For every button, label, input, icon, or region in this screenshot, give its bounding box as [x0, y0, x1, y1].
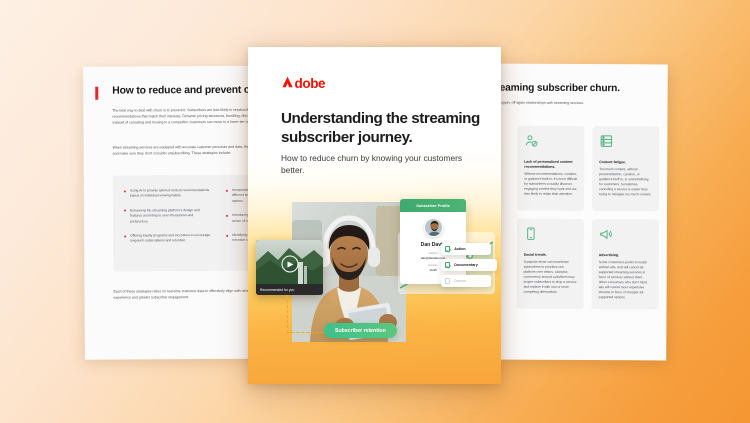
connector-line-vertical — [287, 295, 288, 333]
megaphone-icon — [599, 227, 652, 246]
mobile-phone-icon — [524, 227, 577, 246]
adobe-logo: dobe — [281, 76, 325, 91]
avatar — [424, 218, 443, 237]
genre-chip-label: Documentary — [454, 263, 478, 267]
card-heading: Advertising. — [599, 253, 652, 258]
churn-source-card: Content fatigue. Too much content, witho… — [592, 126, 659, 211]
ebook-cover[interactable]: dobe Understanding the streaming subscri… — [248, 47, 501, 384]
bullet-column-left: Using AI to provide tailored content rec… — [124, 188, 212, 253]
card-body: A popular show can incentivize subscribe… — [524, 260, 577, 295]
connector-line-horizontal — [287, 332, 324, 333]
cover-headline: Understanding the streaming subscriber j… — [281, 109, 481, 147]
genre-chip-drama[interactable]: Drama — [441, 275, 491, 287]
genre-chip-action[interactable]: Action — [441, 243, 491, 255]
document-page-right[interactable]: Sources of streaming subscriber churn. S… — [496, 64, 668, 361]
subscriber-retention-pill[interactable]: Subscriber retention — [324, 323, 397, 338]
list-checklist-icon — [599, 134, 652, 153]
checkbox-unchecked-icon[interactable] — [445, 278, 450, 283]
card-body: Without recommendations, curation, or gu… — [524, 172, 577, 197]
adobe-logo-text: dobe — [295, 76, 326, 91]
card-body: Too much content, without personalizatio… — [599, 167, 652, 197]
genre-chip-documentary[interactable]: Documentary — [441, 259, 497, 271]
card-heading: Lack of personalized content recommendat… — [524, 160, 577, 170]
card-heading: Social trends. — [524, 253, 577, 258]
list-item: Enhancing the streaming platform's desig… — [124, 208, 212, 225]
recommended-video-card[interactable]: Recommended for you — [256, 240, 323, 295]
checkbox-checked-icon[interactable] — [445, 246, 450, 251]
right-doc-card-grid: Lack of personalized content recommendat… — [516, 126, 659, 310]
churn-source-card: Social trends. A popular show can incent… — [516, 219, 583, 309]
card-heading: Content fatigue. — [599, 160, 652, 165]
adobe-a-mark — [281, 76, 294, 88]
genre-chip-label: Action — [454, 247, 465, 251]
hero-composition: How to reduce and prevent churn. The bes… — [0, 0, 750, 423]
list-item: Offering loyalty programs and incentives… — [124, 233, 212, 244]
churn-source-card: Advertising. Some consumers prefer to wa… — [591, 219, 658, 309]
play-icon[interactable] — [281, 256, 298, 273]
churn-source-card: Lack of personalized content recommendat… — [517, 126, 584, 211]
accent-bar — [95, 87, 98, 100]
user-block-icon — [524, 134, 577, 153]
right-doc-subtitle: Several factors push subscribers into on… — [496, 100, 663, 107]
cover-deck: How to reduce churn by knowing your cust… — [281, 152, 466, 176]
list-item: Using AI to provide tailored content rec… — [124, 188, 212, 199]
subscriber-profile-card[interactable]: Subscriber Profile Dan Davis Address dan… — [400, 199, 466, 284]
right-doc-title: Sources of streaming subscriber churn. — [496, 82, 663, 94]
checkbox-checked-icon[interactable] — [445, 262, 450, 267]
profile-card-header: Subscriber Profile — [400, 199, 466, 212]
genre-chip-label: Drama — [454, 279, 465, 283]
video-card-label: Recommended for you — [256, 284, 323, 295]
card-body: Some consumers prefer to watch without a… — [599, 260, 652, 300]
